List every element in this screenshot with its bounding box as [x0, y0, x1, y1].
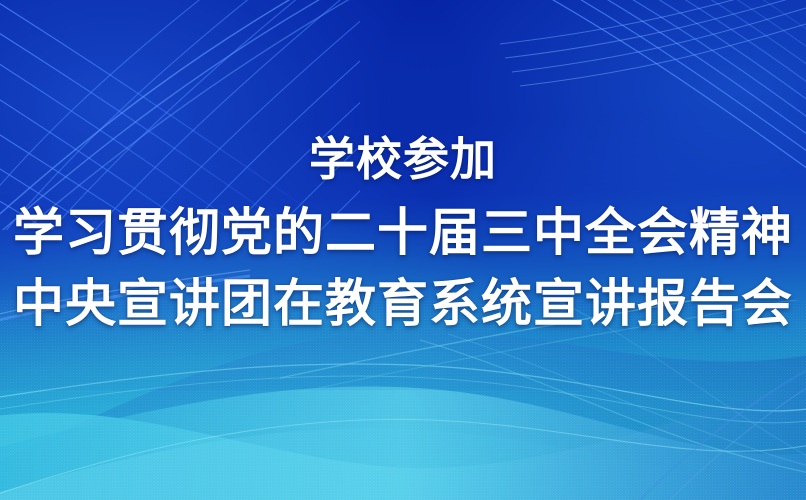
headline-line-2: 学习贯彻党的二十届三中全会精神: [13, 208, 793, 259]
headline-line-1: 学校参加: [309, 136, 497, 182]
banner-graphic: 学校参加 学习贯彻党的二十届三中全会精神 中央宣讲团在教育系统宣讲报告会: [0, 0, 806, 500]
headline-block: 学校参加 学习贯彻党的二十届三中全会精神 中央宣讲团在教育系统宣讲报告会: [0, 0, 806, 500]
headline-line-3: 中央宣讲团在教育系统宣讲报告会: [13, 279, 793, 330]
